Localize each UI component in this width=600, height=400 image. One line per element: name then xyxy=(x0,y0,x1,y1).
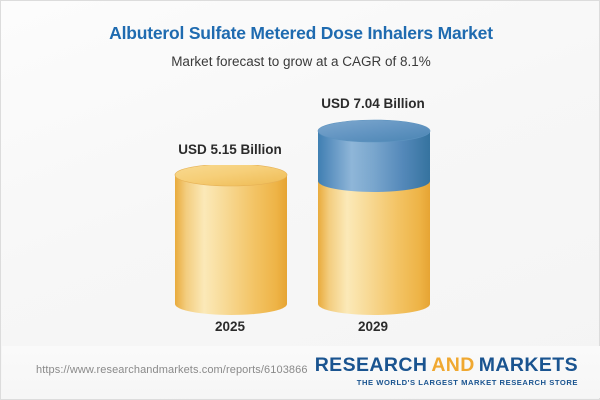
report-url[interactable]: https://www.researchandmarkets.com/repor… xyxy=(36,364,308,376)
logo-word-research: RESEARCH xyxy=(315,354,428,376)
chart-plot-area: USD 5.15 Billion xyxy=(1,1,600,346)
chart-card: Albuterol Sulfate Metered Dose Inhalers … xyxy=(0,0,600,400)
bar-value-label-2025: USD 5.15 Billion xyxy=(120,142,340,157)
bar-cylinder-2025[interactable] xyxy=(172,165,290,315)
logo-wordmark: RESEARCHANDMARKETS xyxy=(315,354,578,376)
bar-cylinder-2029[interactable] xyxy=(315,119,433,315)
bar-category-label-2029: 2029 xyxy=(263,319,483,334)
logo-word-markets: MARKETS xyxy=(479,354,578,376)
bar-value-label-2029: USD 7.04 Billion xyxy=(263,96,483,111)
footer: https://www.researchandmarkets.com/repor… xyxy=(2,346,600,398)
research-and-markets-logo[interactable]: RESEARCHANDMARKETS THE WORLD'S LARGEST M… xyxy=(315,354,578,388)
logo-tagline: THE WORLD'S LARGEST MARKET RESEARCH STOR… xyxy=(315,377,578,388)
logo-word-and: AND xyxy=(431,354,474,376)
